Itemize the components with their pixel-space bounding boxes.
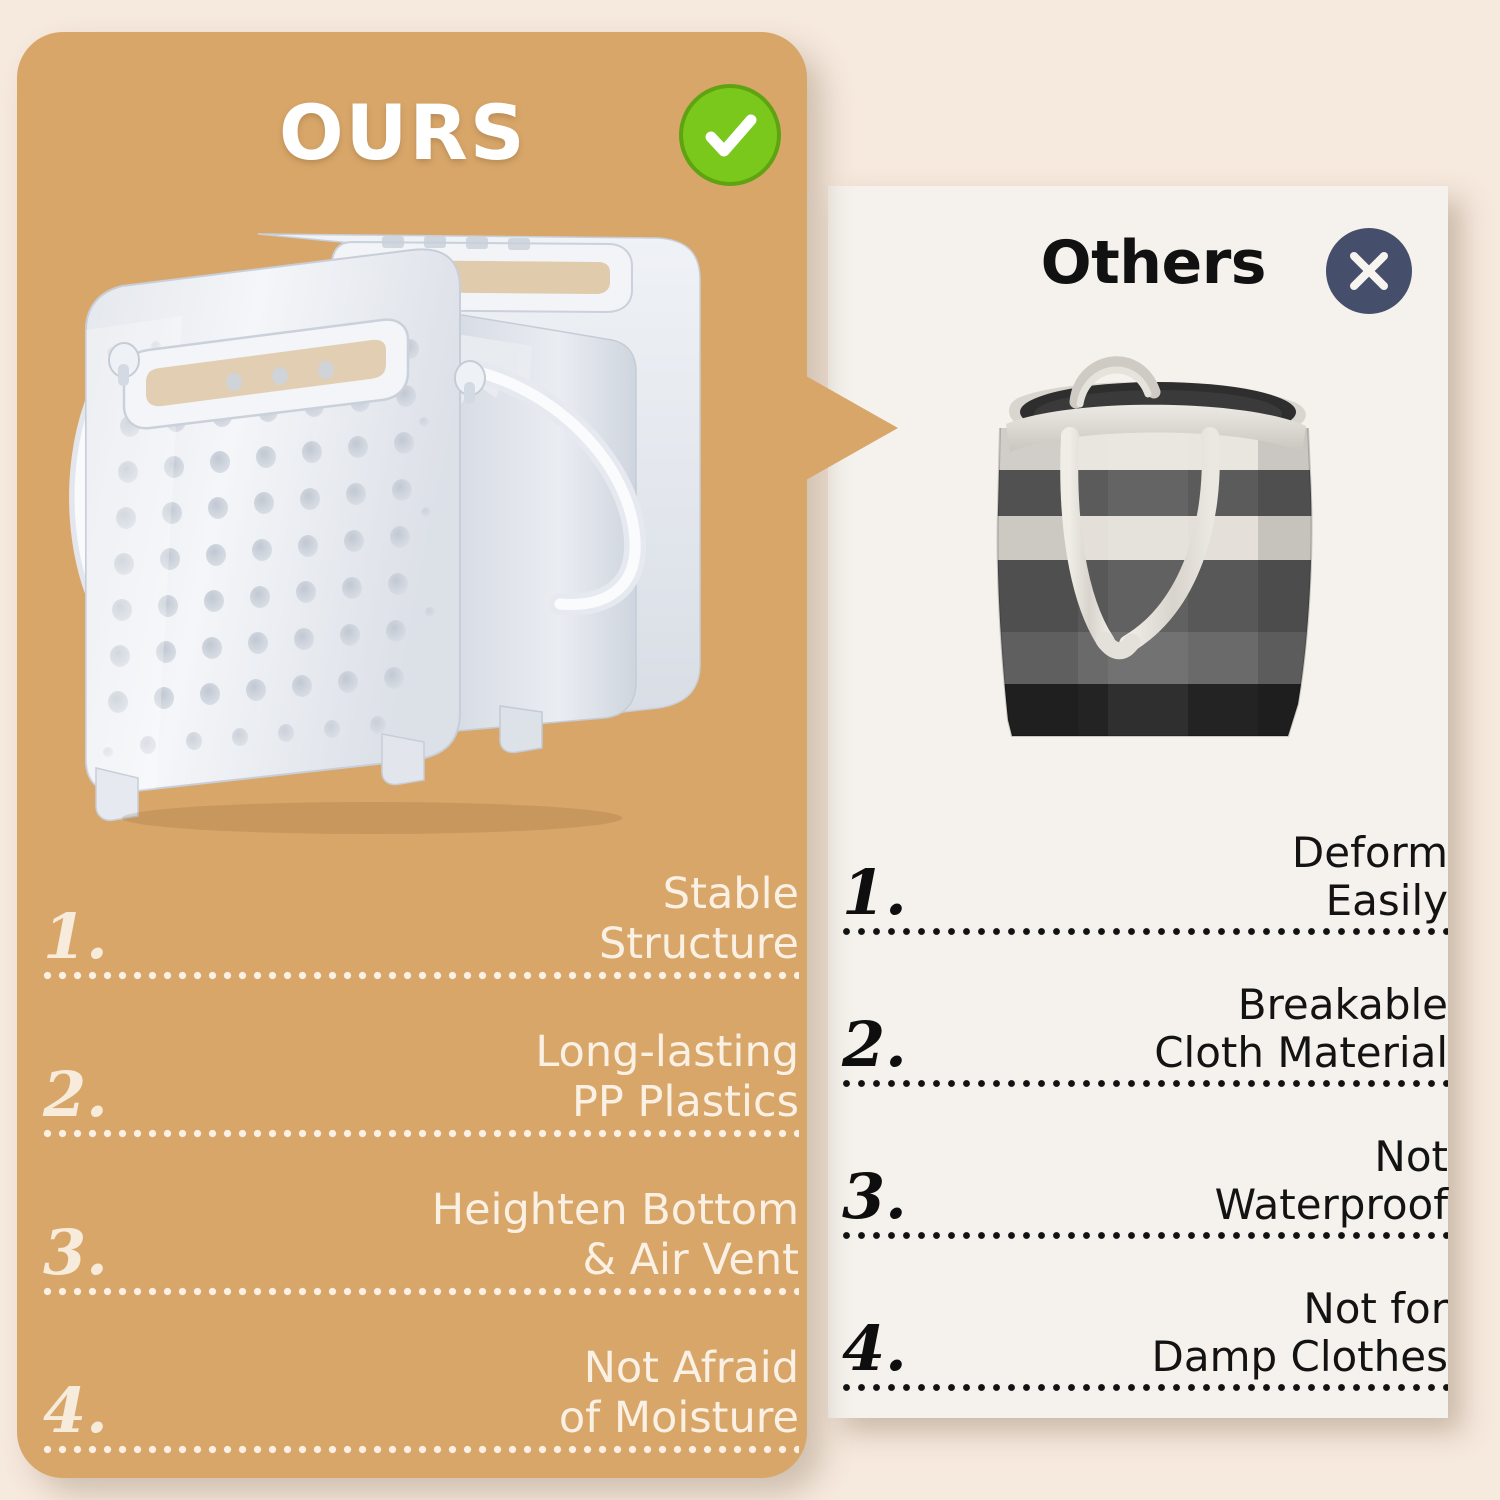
- ours-feature-list: 1. Stable Structure 2. Long-lasting PP P…: [43, 822, 799, 1454]
- list-item: 2. Long-lasting PP Plastics: [43, 980, 799, 1138]
- list-item: 1. Deform Easily: [842, 784, 1448, 936]
- list-item-number: 3.: [43, 1222, 108, 1288]
- list-item-number: 1.: [842, 862, 907, 928]
- list-item: 4. Not for Damp Clothes: [842, 1240, 1448, 1392]
- list-item-number: 2.: [43, 1064, 108, 1130]
- list-item: 3. Not Waterproof: [842, 1088, 1448, 1240]
- list-item-number: 4.: [43, 1380, 108, 1446]
- check-icon: [683, 88, 777, 182]
- list-item-text: Stable Structure: [108, 870, 799, 972]
- list-item-number: 2.: [842, 1014, 907, 1080]
- list-item: 1. Stable Structure: [43, 822, 799, 980]
- list-item: 4. Not Afraid of Moisture: [43, 1296, 799, 1454]
- list-item-text: Not for Damp Clothes: [907, 1285, 1448, 1384]
- list-item-text: Heighten Bottom & Air Vent: [108, 1186, 799, 1288]
- list-item-text: Deform Easily: [907, 829, 1448, 928]
- list-item-text: Long-lasting PP Plastics: [108, 1028, 799, 1130]
- comparison-infographic: Others: [0, 0, 1500, 1500]
- row-divider: [842, 1231, 1448, 1240]
- ours-title: OURS: [279, 88, 527, 177]
- close-icon: [1326, 228, 1412, 314]
- row-divider: [43, 1287, 799, 1296]
- list-item-text: Not Afraid of Moisture: [108, 1344, 799, 1446]
- row-divider: [842, 927, 1448, 936]
- others-product-image: [958, 332, 1358, 752]
- list-item-number: 3.: [842, 1166, 907, 1232]
- ours-product-image: [52, 212, 752, 852]
- list-item: 3. Heighten Bottom & Air Vent: [43, 1138, 799, 1296]
- list-item: 2. Breakable Cloth Material: [842, 936, 1448, 1088]
- others-header: Others: [828, 206, 1448, 326]
- list-item-number: 1.: [43, 906, 108, 972]
- ours-panel: OURS: [17, 32, 807, 1478]
- others-title: Others: [1041, 228, 1266, 298]
- row-divider: [43, 1129, 799, 1138]
- others-feature-list: 1. Deform Easily 2. Breakable Cloth Mate…: [842, 784, 1448, 1392]
- list-item-text: Not Waterproof: [907, 1133, 1448, 1232]
- row-divider: [842, 1383, 1448, 1392]
- row-divider: [43, 1445, 799, 1454]
- list-item-text: Breakable Cloth Material: [907, 981, 1448, 1080]
- row-divider: [842, 1079, 1448, 1088]
- row-divider: [43, 971, 799, 980]
- list-item-number: 4.: [842, 1318, 907, 1384]
- others-panel: Others: [828, 186, 1448, 1418]
